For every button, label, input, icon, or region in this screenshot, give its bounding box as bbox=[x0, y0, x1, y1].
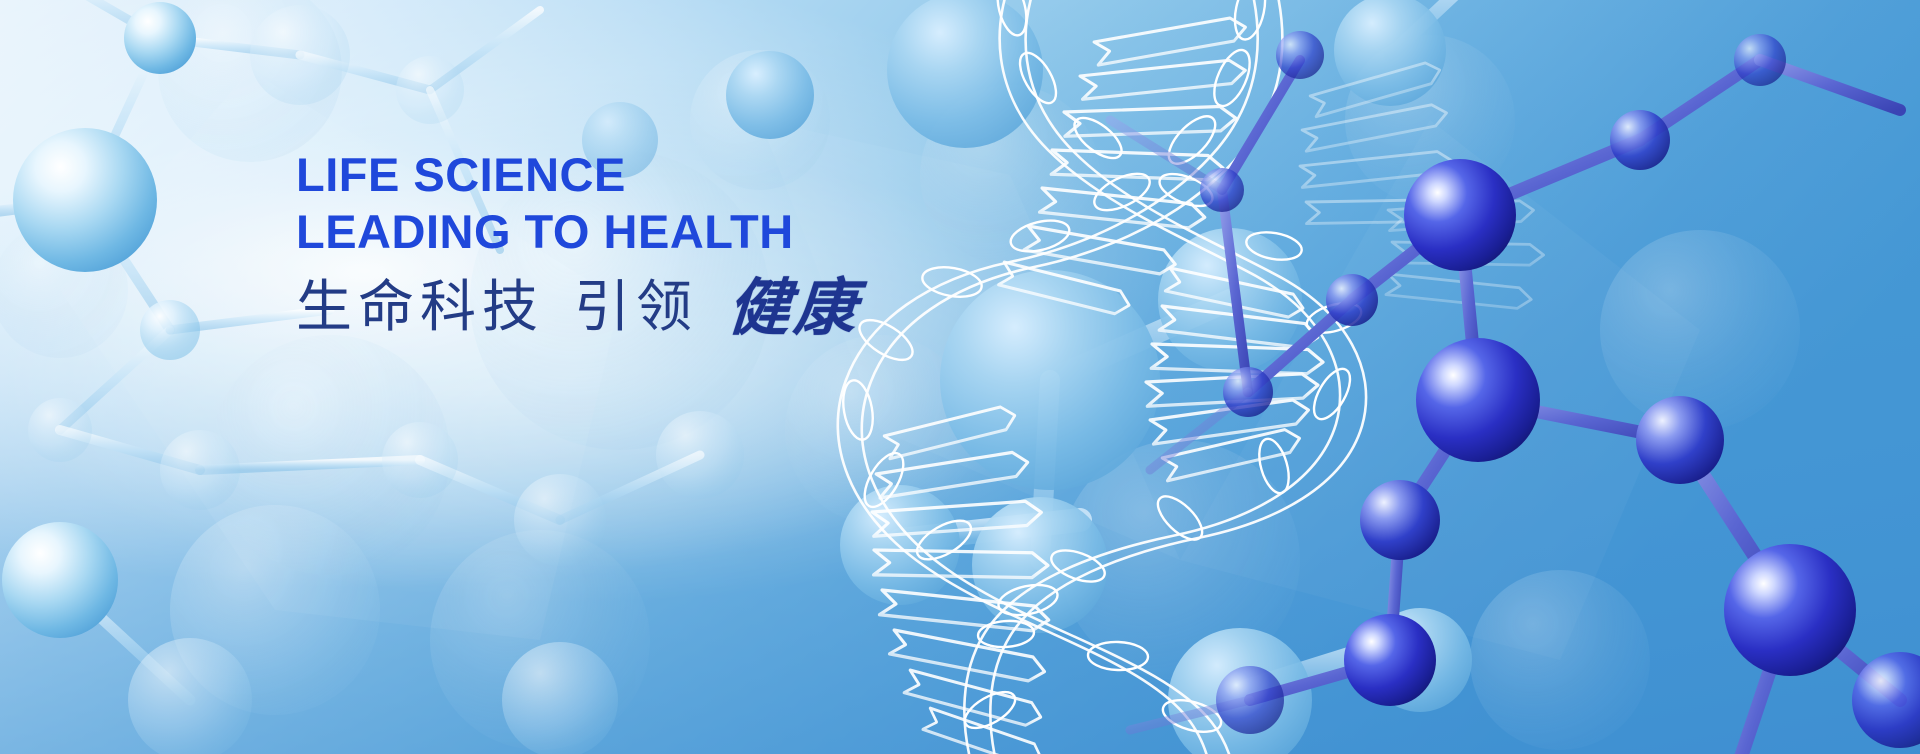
headline-line-1: LIFE SCIENCE bbox=[296, 146, 860, 203]
molecule-network-right bbox=[0, 0, 1920, 754]
subheadline-cn-part2: 引领 bbox=[574, 276, 698, 340]
headline-text-block: LIFE SCIENCE LEADING TO HEALTH 生命科技 引领 健… bbox=[296, 146, 860, 340]
life-science-banner: LIFE SCIENCE LEADING TO HEALTH 生命科技 引领 健… bbox=[0, 0, 1920, 754]
atoms-right bbox=[1200, 31, 1920, 748]
subheadline-chinese: 生命科技 引领 健康 bbox=[296, 276, 860, 340]
headline-line-2: LEADING TO HEALTH bbox=[296, 203, 860, 260]
subheadline-cn-part1: 生命科技 bbox=[296, 276, 544, 340]
subheadline-cn-brush: 健康 bbox=[726, 276, 862, 340]
